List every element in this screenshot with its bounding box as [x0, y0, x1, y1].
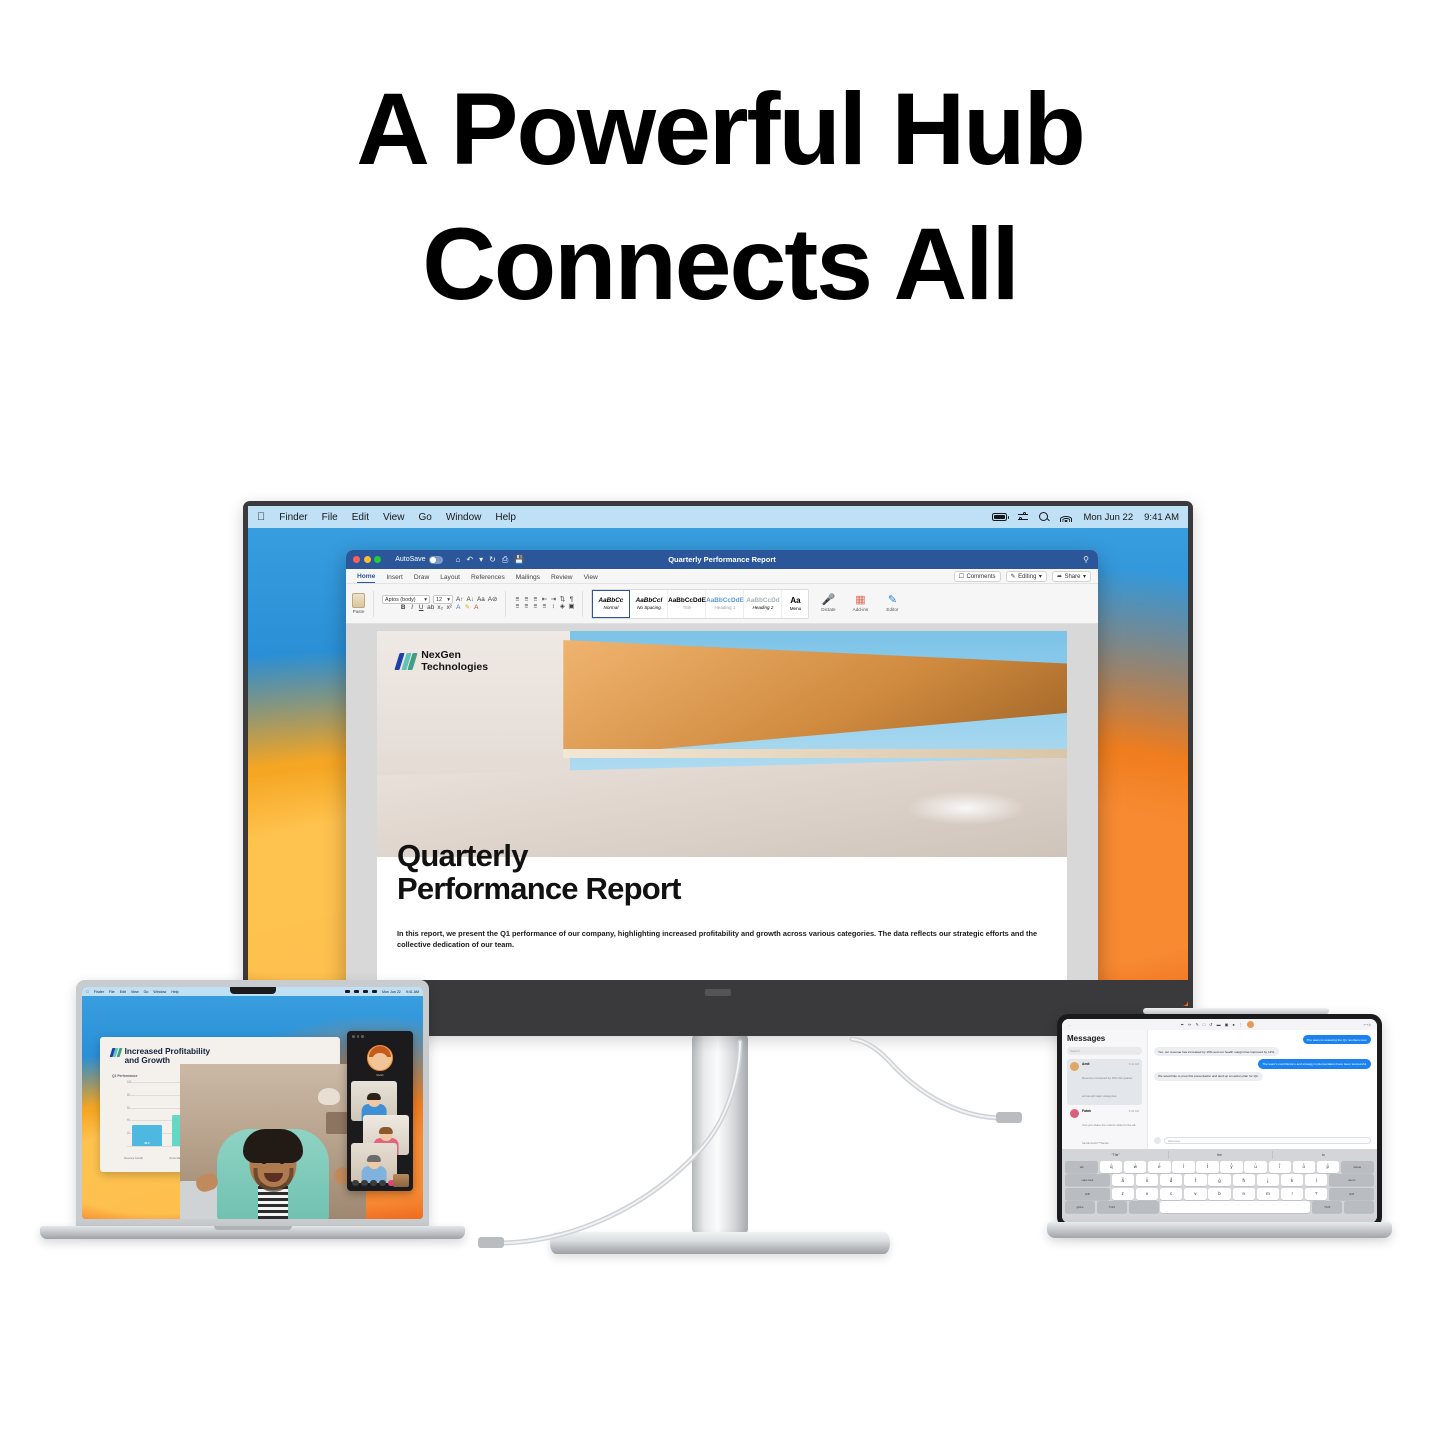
app-title: Messages — [1067, 1034, 1142, 1043]
participant-tile[interactable] — [351, 1143, 397, 1183]
logo-text: NexGen Technologies — [421, 649, 488, 674]
style-name: Heading 1 — [714, 605, 735, 610]
key-q[interactable]: 1q — [1100, 1161, 1122, 1173]
text-highlight-icon[interactable]: ✎ — [464, 605, 470, 611]
style-no-spacing[interactable]: AaBbCcI No Spacing — [630, 590, 668, 618]
presenter-name: Darsh — [347, 1074, 413, 1077]
key-shift-left[interactable]: shift — [1065, 1188, 1110, 1200]
message-bubble: The team is reviewing the Q1 numbers now… — [1303, 1035, 1371, 1044]
superscript-button[interactable]: x² — [446, 605, 452, 611]
borders-icon[interactable]: ▣ — [568, 604, 574, 610]
style-name: No Spacing — [637, 605, 661, 610]
key-sup: 0 — [1327, 1163, 1328, 1166]
key-sup: ( — [1219, 1177, 1220, 1180]
clear-formatting-button[interactable]: A⊘ — [488, 597, 498, 603]
comments-button[interactable]: ☐Comments — [954, 571, 1001, 582]
menubar-time[interactable]: 9:41 AM — [1144, 512, 1179, 523]
document-body-paragraph: In this report, we present the Q1 perfor… — [397, 929, 1045, 951]
menu-finder[interactable]: Finder — [279, 512, 307, 523]
key-sup: # — [1146, 1177, 1147, 1180]
align-left-icon[interactable]: ≡ — [514, 604, 520, 610]
comments-label: Comments — [967, 574, 996, 580]
word-window[interactable]: AutoSave ⌂ ↶ ▾ ↻ ⎙ 💾 Quarterly Performan… — [346, 550, 1098, 1006]
keyboard-row-3[interactable]: shift z x c v b n m ! ? shift — [1065, 1188, 1374, 1200]
key-hide-keyboard[interactable] — [1344, 1201, 1374, 1213]
monitor-screen:  Finder File Edit View Go Window Help M… — [248, 506, 1188, 1006]
battery-icon — [345, 990, 350, 993]
chevron-down-icon: ▾ — [1083, 573, 1086, 580]
laptop-screen:  Finder File Edit View Go Window Help M… — [82, 987, 423, 1219]
ribbon[interactable]: ☐Comments ✎Editing▾ ➦Share▾ Paste Aptos … — [346, 584, 1098, 624]
underline-button[interactable]: U — [418, 605, 424, 611]
logo-line-1: NexGen — [421, 649, 488, 661]
message-input[interactable]: iMessage — [1164, 1137, 1371, 1144]
font-row-2[interactable]: B I U ab x₂ x² A ✎ A — [400, 605, 479, 611]
avatar — [367, 1045, 393, 1071]
chevron-down-icon: ▾ — [1039, 573, 1042, 580]
monitor-stand-neck — [692, 1034, 748, 1234]
style-name: Menu — [790, 606, 802, 611]
key-r[interactable]: 4r — [1172, 1161, 1194, 1173]
key-sup: 5 — [1207, 1163, 1208, 1166]
chevron-down-icon[interactable]: ▾ — [479, 555, 483, 564]
key-sup: 3 — [1159, 1163, 1160, 1166]
menubar-date[interactable]: Mon Jun 22 — [1083, 512, 1133, 523]
wifi-icon — [372, 990, 377, 993]
participants-icon[interactable] — [379, 1180, 386, 1187]
conversation-header: Fatah 9:32 AM — [1082, 1109, 1139, 1113]
maximize-icon[interactable] — [374, 556, 381, 563]
key-shift-right[interactable]: shift — [1329, 1188, 1374, 1200]
comment-icon: ☐ — [959, 573, 964, 580]
tablet-toolbar[interactable]: ← ✒ ✏ ✎ □ ↺ ▬ ▣ ● ⋮ ↶ — [1062, 1019, 1377, 1030]
strikethrough-button[interactable]: ab — [427, 605, 434, 611]
list-item[interactable]: Amit 9:41 AM Revenue increased by 15% th… — [1067, 1059, 1142, 1105]
laptop-menubar-time[interactable]: 9:41 AM — [406, 990, 419, 994]
word-search-icon[interactable]: ⚲ — [1083, 555, 1089, 564]
self-view-thumbnail[interactable] — [393, 1174, 409, 1187]
key-sup: * — [1195, 1177, 1196, 1180]
prediction-2[interactable]: to — [1272, 1151, 1374, 1159]
autosave-control[interactable]: AutoSave — [395, 556, 442, 564]
apple-menu-icon[interactable]:  — [86, 990, 89, 994]
logo-bars-icon — [397, 653, 415, 670]
logo-line-2: Technologies — [421, 661, 488, 673]
key-sup: 1 — [1111, 1163, 1112, 1166]
print-icon[interactable]: ⎙ — [502, 555, 508, 565]
message-composer[interactable]: iMessage — [1154, 1137, 1371, 1144]
conversation-name: Amit — [1082, 1062, 1090, 1066]
align-right-icon[interactable]: ≡ — [532, 604, 538, 610]
style-normal[interactable]: AaBbCc Normal — [592, 590, 630, 618]
key-w[interactable]: 2w — [1124, 1161, 1146, 1173]
text-effects-icon[interactable]: A — [455, 605, 461, 611]
lasso-icon[interactable]: ↺ — [1209, 1022, 1212, 1027]
search-placeholder: Search — [1070, 1049, 1080, 1053]
paragraph-group[interactable]: ≡ ≡ ≡ ⇤ ⇥ ⇅ ¶ ≡ ≡ ≡ ≡ — [514, 597, 574, 611]
microphone-icon: 🎤 — [822, 595, 836, 606]
add-ins-button[interactable]: ▦ Add-ins — [847, 595, 873, 612]
justify-icon[interactable]: ≡ — [541, 604, 547, 610]
keyboard-row-4[interactable]: globe ?123 ?123 — [1065, 1201, 1374, 1213]
laptop-status-icons[interactable] — [345, 990, 377, 993]
editing-label: Editing — [1018, 574, 1036, 580]
back-icon[interactable]: ← — [1068, 1023, 1071, 1027]
tab-mailings[interactable]: Mailings — [516, 574, 540, 583]
message-placeholder: iMessage — [1168, 1139, 1180, 1143]
key-sup: 4 — [1183, 1163, 1184, 1166]
laptop-base-notch — [214, 1226, 292, 1230]
font-name-value: Aptos (body) — [385, 597, 416, 603]
key-t[interactable]: 5t — [1196, 1161, 1218, 1173]
keyboard-row-2[interactable]: caps lock @a #s &d *f (g )h 'j "k :l ret… — [1065, 1174, 1374, 1186]
document-heading-line-2: Performance Report — [397, 872, 681, 905]
chevron-down-icon: ▾ — [447, 597, 450, 603]
bold-button[interactable]: B — [400, 605, 406, 611]
tab-layout[interactable]: Layout — [440, 574, 460, 583]
style-sample: AaBbCc — [599, 597, 624, 604]
key-c[interactable]: c — [1160, 1188, 1182, 1200]
menu-file[interactable]: File — [109, 990, 115, 994]
style-sample: AaBbCcDdE — [668, 597, 706, 604]
style-sample: AaBbCcI — [636, 597, 663, 604]
markup-tools[interactable]: ✒ ✏ ✎ □ ↺ ▬ ▣ ● ⋮ — [1181, 1021, 1254, 1028]
laptop-device:  Finder File Edit View Go Window Help M… — [40, 980, 465, 1260]
tablet-body: ← ✒ ✏ ✎ □ ↺ ▬ ▣ ● ⋮ ↶ — [1057, 1014, 1382, 1228]
window-traffic-lights[interactable] — [353, 556, 381, 563]
key-sup: & — [1170, 1177, 1172, 1180]
key-n[interactable]: n — [1233, 1188, 1255, 1200]
share-button[interactable]: ➦Share▾ — [1052, 571, 1091, 582]
tab-review[interactable]: Review — [551, 574, 573, 583]
font-size-value: 12 — [436, 597, 442, 603]
prediction-bar[interactable]: "The" the to — [1065, 1151, 1374, 1159]
font-color-icon[interactable]: A — [473, 605, 479, 611]
style-sample: Aa — [790, 596, 800, 605]
line-spacing-icon[interactable]: ↕ — [550, 604, 556, 610]
tablet-device: ← ✒ ✏ ✎ □ ↺ ▬ ▣ ● ⋮ ↶ — [1047, 1008, 1392, 1248]
message-thread[interactable]: The team is reviewing the Q1 numbers now… — [1148, 1030, 1377, 1149]
close-icon[interactable] — [353, 556, 360, 563]
tab-references[interactable]: References — [471, 574, 505, 583]
search-input[interactable]: Search — [1067, 1047, 1142, 1055]
ribbon-divider — [373, 591, 374, 617]
conversation-time: 9:41 AM — [1129, 1062, 1139, 1066]
usb-c-connector — [996, 1112, 1022, 1123]
keyboard-row-1[interactable]: tab 1q 2w 3e 4r 5t 6y 7u 8i 9o 0p delete — [1065, 1161, 1374, 1173]
paragraph-row-2[interactable]: ≡ ≡ ≡ ≡ ↕ ◈ ▣ — [514, 604, 574, 610]
search-icon[interactable]: ⚲ — [1369, 1023, 1371, 1027]
menu-view[interactable]: View — [131, 990, 139, 994]
key-s[interactable]: #s — [1136, 1174, 1158, 1186]
save-icon[interactable]: 💾 — [514, 555, 524, 564]
editor-button[interactable]: ✎ Editor — [879, 595, 905, 612]
key-exclamation[interactable]: ! — [1281, 1188, 1303, 1200]
key-l[interactable]: :l — [1305, 1174, 1327, 1186]
key-b[interactable]: b — [1208, 1188, 1230, 1200]
avatar — [1070, 1109, 1079, 1118]
conversation-preview: Can you share the metrics slide for the … — [1082, 1123, 1136, 1145]
more-icon[interactable]: ⋮ — [1239, 1022, 1243, 1027]
key-sup: 7 — [1255, 1163, 1256, 1166]
key-numeric-left[interactable]: ?123 — [1097, 1201, 1127, 1213]
mic-icon[interactable] — [352, 1180, 359, 1187]
message-bubble: The team's contributions and strategy im… — [1258, 1059, 1371, 1068]
battery-icon[interactable] — [992, 513, 1007, 521]
paste-label: Paste — [353, 609, 365, 614]
document-heading-line-1: Quarterly — [397, 839, 681, 872]
key-numeric-right[interactable]: ?123 — [1312, 1201, 1342, 1213]
share-icon: ➦ — [1057, 573, 1062, 580]
style-title[interactable]: AaBbCcDdE Title — [668, 590, 706, 618]
key-g[interactable]: (g — [1208, 1174, 1230, 1186]
key-sup: 6 — [1231, 1163, 1232, 1166]
editor-icon: ✎ — [888, 595, 897, 606]
redo-icon[interactable]: ↻ — [489, 555, 496, 564]
menu-finder[interactable]: Finder — [94, 990, 104, 994]
style-name: Title — [683, 605, 692, 610]
style-sample: AaBbCcDdE — [706, 597, 744, 604]
onscreen-keyboard[interactable]: "The" the to tab 1q 2w 3e 4r 5t 6y 7u 8i — [1062, 1149, 1377, 1223]
company-logo: NexGen Technologies — [397, 649, 488, 674]
dictate-label: Dictate — [821, 607, 835, 612]
change-case-button[interactable]: Aa — [477, 597, 485, 603]
key-caps-lock[interactable]: caps lock — [1065, 1174, 1110, 1186]
call-window-dots — [352, 1035, 364, 1038]
key-sup: @ — [1122, 1177, 1124, 1180]
align-center-icon[interactable]: ≡ — [523, 604, 529, 610]
ribbon-divider — [582, 591, 583, 617]
conversation-header: Amit 9:41 AM — [1082, 1062, 1139, 1066]
key-e[interactable]: 3e — [1148, 1161, 1170, 1173]
avatar[interactable] — [1247, 1021, 1254, 1028]
key-question[interactable]: ? — [1305, 1188, 1327, 1200]
camera-icon[interactable] — [361, 1180, 368, 1187]
pen-icon[interactable]: ✒ — [1181, 1022, 1184, 1027]
menu-help[interactable]: Help — [171, 990, 178, 994]
message-bubble: We would like to prep this presentation … — [1154, 1072, 1263, 1081]
slide-subtitle: Q1 Performance — [112, 1074, 137, 1078]
menu-edit[interactable]: Edit — [352, 512, 369, 523]
key-sup: 2 — [1135, 1163, 1136, 1166]
menu-go[interactable]: Go — [418, 512, 431, 523]
key-d[interactable]: &d — [1160, 1174, 1182, 1186]
font-size-select[interactable]: 12▾ — [433, 595, 453, 604]
presenter-body — [217, 1129, 329, 1219]
shading-icon[interactable]: ◈ — [559, 604, 565, 610]
key-tab[interactable]: tab — [1065, 1161, 1098, 1173]
conversation-sidebar[interactable]: Messages Search Amit 9:41 AM Re — [1062, 1030, 1148, 1149]
key-sup: 9 — [1303, 1163, 1304, 1166]
control-center-icon[interactable] — [1018, 512, 1028, 522]
search-icon[interactable] — [1039, 512, 1049, 522]
shrink-font-button[interactable]: A↓ — [466, 597, 473, 603]
messages-app[interactable]: Messages Search Amit 9:41 AM Re — [1062, 1030, 1377, 1149]
tab-insert[interactable]: Insert — [386, 574, 403, 583]
ribbon-divider — [505, 591, 506, 617]
editing-mode-button[interactable]: ✎Editing▾ — [1006, 571, 1047, 582]
home-icon[interactable]: ⌂ — [456, 555, 461, 564]
logo-bars-icon — [111, 1048, 121, 1057]
key-a[interactable]: @a — [1112, 1174, 1134, 1186]
key-y[interactable]: 6y — [1220, 1161, 1242, 1173]
menu-help[interactable]: Help — [495, 512, 516, 523]
key-space[interactable] — [1160, 1201, 1310, 1213]
share-label: Share — [1064, 574, 1080, 580]
external-monitor:  Finder File Edit View Go Window Help M… — [243, 501, 1193, 1036]
key-sup: 8 — [1279, 1163, 1280, 1166]
minimize-icon[interactable] — [364, 556, 371, 563]
font-name-select[interactable]: Aptos (body)▾ — [382, 595, 430, 604]
editor-label: Editor — [886, 607, 898, 612]
key-sup: " — [1292, 1177, 1293, 1180]
presenter-video-feed — [180, 1064, 366, 1219]
key-k[interactable]: "k — [1281, 1174, 1303, 1186]
italic-button[interactable]: I — [409, 605, 415, 611]
menu-view[interactable]: View — [383, 512, 405, 523]
word-titlebar[interactable]: AutoSave ⌂ ↶ ▾ ↻ ⎙ 💾 Quarterly Performan… — [346, 550, 1098, 569]
tablet-keyboard-base — [1047, 1222, 1392, 1238]
key-f[interactable]: *f — [1184, 1174, 1206, 1186]
menu-window[interactable]: Window — [153, 990, 166, 994]
key-emoji[interactable] — [1129, 1201, 1159, 1213]
document-page[interactable]: NexGen Technologies Quarterly Performanc… — [377, 631, 1067, 1006]
style-heading-1[interactable]: AaBbCcDdE Heading 1 — [706, 590, 744, 618]
styles-gallery[interactable]: AaBbCc Normal AaBbCcI No Spacing AaBbCcD… — [591, 589, 809, 619]
menu-go[interactable]: Go — [144, 990, 149, 994]
style-sample: AaBbCcDd — [746, 597, 779, 604]
key-sup: ) — [1243, 1177, 1244, 1180]
paste-button[interactable] — [352, 593, 365, 608]
menu-edit[interactable]: Edit — [120, 990, 126, 994]
style-name: Normal — [604, 605, 619, 610]
key-sup: : — [1316, 1177, 1317, 1180]
add-ins-icon: ▦ — [855, 595, 865, 606]
clipboard-group[interactable]: Paste — [352, 593, 365, 614]
pencil-icon[interactable]: ✎ — [1195, 1022, 1198, 1027]
menu-file[interactable]: File — [322, 512, 338, 523]
ribbon-right-controls[interactable]: ☐Comments ✎Editing▾ ➦Share▾ — [954, 571, 1091, 582]
monitor-brand-logo — [705, 989, 731, 996]
tab-view[interactable]: View — [584, 574, 598, 583]
ruler-icon[interactable]: ▬ — [1217, 1022, 1221, 1027]
avatar — [1070, 1062, 1079, 1071]
quick-access-toolbar[interactable]: ⌂ ↶ ▾ ↻ ⎙ 💾 — [456, 555, 525, 565]
key-o[interactable]: 9o — [1293, 1161, 1315, 1173]
add-ins-label: Add-ins — [853, 607, 869, 612]
usb-c-connector — [478, 1237, 504, 1248]
conversation-preview: Revenue increased by 15% this quarter ac… — [1082, 1076, 1133, 1098]
style-name: Heading 2 — [752, 605, 773, 610]
key-return[interactable]: return — [1329, 1174, 1374, 1186]
undo-icon[interactable]: ↶ — [466, 555, 473, 564]
key-delete[interactable]: delete — [1341, 1161, 1374, 1173]
marker-icon[interactable]: ✏ — [1188, 1022, 1191, 1027]
style-more[interactable]: Aa Menu — [782, 590, 808, 618]
autosave-label: AutoSave — [395, 556, 425, 563]
device-stage:  Finder File Edit View Go Window Help M… — [0, 0, 1440, 1440]
monitor-stand-base — [550, 1232, 890, 1254]
macos-menubar[interactable]:  Finder File Edit View Go Window Help M… — [248, 506, 1188, 528]
key-m[interactable]: m — [1257, 1188, 1279, 1200]
control-center-icon — [354, 990, 359, 993]
style-heading-2[interactable]: AaBbCcDd Heading 2 — [744, 590, 782, 618]
chevron-down-icon: ▾ — [424, 597, 427, 603]
prediction-1[interactable]: the — [1168, 1151, 1270, 1159]
prediction-0[interactable]: "The" — [1065, 1151, 1166, 1159]
key-j[interactable]: 'j — [1257, 1174, 1279, 1186]
eraser-icon[interactable]: □ — [1203, 1022, 1205, 1027]
document-heading: Quarterly Performance Report — [397, 839, 681, 906]
key-h[interactable]: )h — [1233, 1174, 1255, 1186]
autosave-toggle[interactable] — [429, 556, 443, 564]
laptop-menubar-date[interactable]: Mon Jun 22 — [382, 990, 401, 994]
dictate-button[interactable]: 🎤 Dictate — [815, 595, 841, 612]
font-group[interactable]: Aptos (body)▾ 12▾ A↑ A↓ Aa A⊘ B I U ab — [382, 595, 497, 611]
message-bubble: Yes, our revenue has increased by 15% an… — [1154, 1047, 1279, 1056]
wifi-icon[interactable] — [1060, 513, 1072, 522]
add-attachment-icon[interactable] — [1154, 1137, 1161, 1144]
grow-font-button[interactable]: A↑ — [456, 597, 463, 603]
call-controls[interactable] — [352, 1180, 395, 1187]
laptop-lid:  Finder File Edit View Go Window Help M… — [76, 980, 429, 1228]
x-label-0: Revenue Growth — [117, 1157, 149, 1160]
key-i[interactable]: 8i — [1269, 1161, 1291, 1173]
tab-home[interactable]: Home — [357, 573, 375, 583]
key-globe[interactable]: globe — [1065, 1201, 1095, 1213]
conversation-name: Fatah — [1082, 1109, 1091, 1113]
menubar-status-area: Mon Jun 22 9:41 AM — [992, 512, 1179, 523]
apple-menu-icon[interactable]:  — [257, 512, 265, 523]
menu-window[interactable]: Window — [446, 512, 482, 523]
share-screen-icon[interactable] — [370, 1180, 377, 1187]
key-u[interactable]: 7u — [1244, 1161, 1266, 1173]
conversation-time: 9:32 AM — [1129, 1109, 1139, 1113]
subscript-button[interactable]: x₂ — [437, 605, 443, 611]
laptop-notch — [230, 987, 276, 994]
key-x[interactable]: x — [1136, 1188, 1158, 1200]
color-icon[interactable]: ● — [1232, 1022, 1234, 1027]
search-icon — [363, 990, 368, 993]
document-canvas[interactable]: NexGen Technologies Quarterly Performanc… — [346, 624, 1098, 1006]
key-p[interactable]: 0p — [1317, 1161, 1339, 1173]
shapes-icon[interactable]: ▣ — [1225, 1022, 1229, 1027]
tablet-screen[interactable]: ← ✒ ✏ ✎ □ ↺ ▬ ▣ ● ⋮ ↶ — [1062, 1019, 1377, 1223]
pencil-icon: ✎ — [1011, 573, 1016, 580]
tab-draw[interactable]: Draw — [414, 574, 429, 583]
video-call-panel[interactable]: Darsh — [347, 1031, 413, 1191]
key-v[interactable]: v — [1184, 1188, 1206, 1200]
slide-title-line-1: Increased Profitability — [125, 1047, 211, 1056]
key-z[interactable]: z — [1112, 1188, 1134, 1200]
font-row-1[interactable]: Aptos (body)▾ 12▾ A↑ A↓ Aa A⊘ — [382, 595, 497, 604]
list-item[interactable]: Fatah 9:32 AM Can you share the metrics … — [1067, 1106, 1142, 1152]
